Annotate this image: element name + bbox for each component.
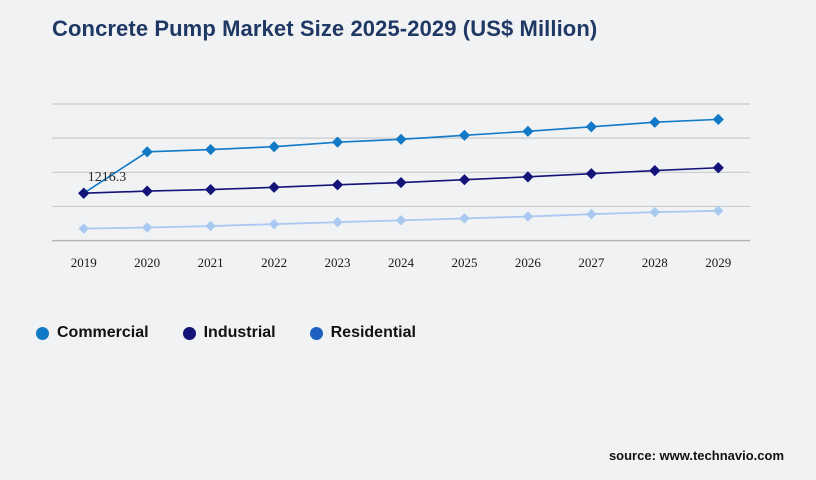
x-axis-tick-2025: 2025 [433,255,496,275]
legend-marker-icon [183,327,196,340]
data-point-marker[interactable] [395,134,406,145]
data-point-marker[interactable] [522,171,533,182]
x-axis-tick-2029: 2029 [687,255,750,275]
series-industrial [78,162,724,199]
data-point-marker[interactable] [269,219,279,229]
data-point-marker[interactable] [396,215,406,225]
data-point-marker[interactable] [78,188,89,199]
x-axis-tick-2022: 2022 [242,255,305,275]
legend-item-industrial[interactable]: Industrial [183,324,276,342]
data-point-marker[interactable] [79,223,89,233]
source-attribution: source: www.technavio.com [609,448,784,463]
legend-marker-icon [36,327,49,340]
series-residential [79,206,724,234]
chart-legend: CommercialIndustrialResidential [36,324,450,342]
data-point-marker[interactable] [713,114,724,125]
data-point-marker[interactable] [205,184,216,195]
x-axis-tick-labels: 2019202020212022202320242025202620272028… [52,255,750,275]
data-point-marker[interactable] [459,213,469,223]
legend-label: Residential [331,324,416,342]
data-point-marker[interactable] [523,211,533,221]
x-axis-tick-2019: 2019 [52,255,115,275]
data-point-marker[interactable] [522,126,533,137]
data-point-marker[interactable] [205,144,216,155]
data-point-marker[interactable] [459,174,470,185]
data-point-marker[interactable] [713,206,723,216]
legend-label: Commercial [57,324,149,342]
data-point-marker[interactable] [650,207,660,217]
x-axis-tick-2024: 2024 [369,255,432,275]
data-point-marker[interactable] [586,121,597,132]
x-axis-tick-2020: 2020 [115,255,178,275]
legend-item-commercial[interactable]: Commercial [36,324,149,342]
x-axis-tick-2026: 2026 [496,255,559,275]
data-point-marker[interactable] [142,146,153,157]
data-point-marker[interactable] [268,141,279,152]
data-point-marker[interactable] [586,209,596,219]
legend-marker-icon [310,327,323,340]
x-axis-tick-2028: 2028 [623,255,686,275]
chart-title: Concrete Pump Market Size 2025-2029 (US$… [52,16,597,42]
data-point-marker[interactable] [142,222,152,232]
data-point-marker[interactable] [395,177,406,188]
data-point-marker[interactable] [205,221,215,231]
data-point-marker[interactable] [713,162,724,173]
chart-plot-svg [52,104,750,252]
data-point-marker[interactable] [586,168,597,179]
plot-area [52,104,750,252]
data-point-marker[interactable] [268,182,279,193]
data-point-marker[interactable] [332,217,342,227]
data-point-marker[interactable] [459,130,470,141]
legend-label: Industrial [204,324,276,342]
x-axis-tick-2021: 2021 [179,255,242,275]
data-point-marker[interactable] [649,117,660,128]
legend-item-residential[interactable]: Residential [310,324,416,342]
data-point-marker[interactable] [649,165,660,176]
data-point-label: 1216.3 [88,170,127,186]
data-point-marker[interactable] [142,185,153,196]
x-axis-tick-2023: 2023 [306,255,369,275]
x-axis-tick-2027: 2027 [560,255,623,275]
chart-container: Concrete Pump Market Size 2025-2029 (US$… [0,0,816,480]
data-point-marker[interactable] [332,179,343,190]
